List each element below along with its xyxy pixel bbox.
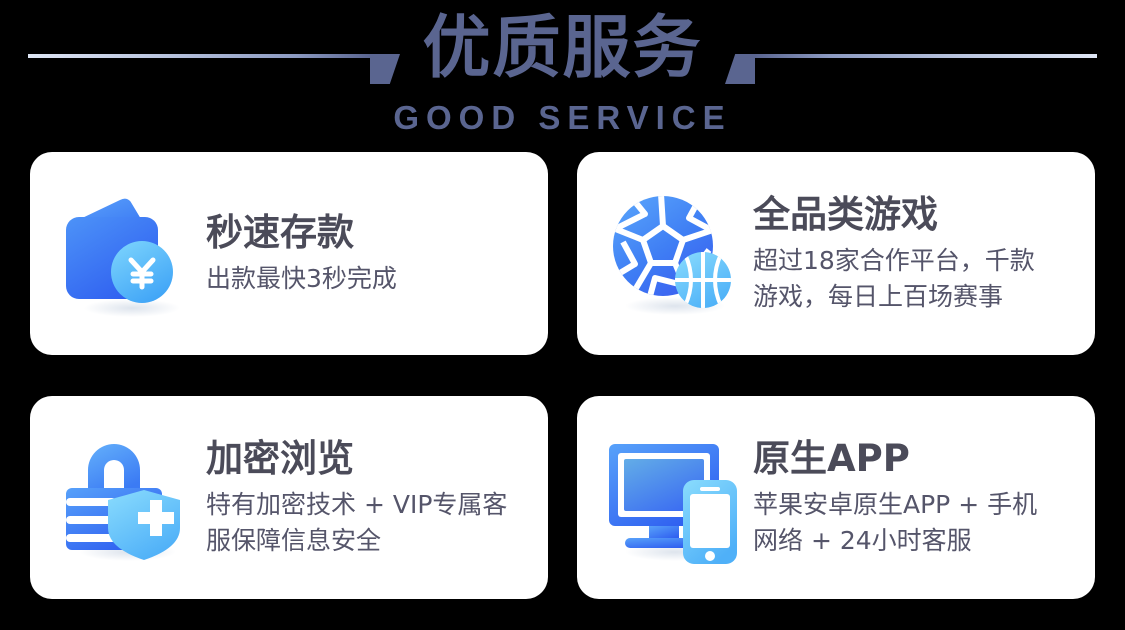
left-decoration-slash-icon <box>370 54 400 84</box>
card-title: 全品类游戏 <box>753 193 1035 237</box>
card-subtitle: 超过18家合作平台，千款 游戏，每日上百场赛事 <box>753 243 1035 315</box>
soccer-basketball-icon-svg <box>605 184 745 324</box>
monitor-phone-icon <box>605 428 745 568</box>
right-decoration <box>715 50 1097 90</box>
card-title: 秒速存款 <box>206 211 397 255</box>
page-subtitle: GOOD SERVICE <box>393 100 731 136</box>
card-subtitle: 苹果安卓原生APP + 手机 网络 + 24小时客服 <box>753 487 1037 559</box>
feature-card-encryption-text: 加密浏览 特有加密技术 + VIP专属客 服保障信息安全 <box>206 437 507 559</box>
soccer-basketball-icon <box>605 184 745 324</box>
wallet-yuan-icon <box>58 184 198 324</box>
lock-shield-icon-svg <box>58 428 198 568</box>
card-subtitle: 出款最快3秒完成 <box>206 261 397 297</box>
lock-shield-icon <box>58 428 198 568</box>
card-subtitle: 特有加密技术 + VIP专属客 服保障信息安全 <box>206 487 507 559</box>
monitor-phone-icon-svg <box>605 428 745 568</box>
feature-card-grid: 秒速存款 出款最快3秒完成 <box>30 152 1095 599</box>
page-title: 优质服务 <box>422 12 702 86</box>
left-decoration <box>28 50 410 90</box>
feature-card-games-text: 全品类游戏 超过18家合作平台，千款 游戏，每日上百场赛事 <box>753 193 1035 315</box>
right-decoration-slash-icon <box>725 54 755 84</box>
feature-card-native-app[interactable]: 原生APP 苹果安卓原生APP + 手机 网络 + 24小时客服 <box>577 396 1095 599</box>
page-header: 优质服务 GOOD SERVICE <box>0 0 1125 148</box>
header-title-row: 优质服务 <box>0 0 1125 98</box>
card-title: 加密浏览 <box>206 437 507 481</box>
feature-card-games[interactable]: 全品类游戏 超过18家合作平台，千款 游戏，每日上百场赛事 <box>577 152 1095 355</box>
feature-card-deposit[interactable]: 秒速存款 出款最快3秒完成 <box>30 152 548 355</box>
card-title: 原生APP <box>753 437 1037 481</box>
feature-card-native-app-text: 原生APP 苹果安卓原生APP + 手机 网络 + 24小时客服 <box>753 437 1037 559</box>
right-decoration-line <box>755 54 1097 58</box>
left-decoration-line <box>28 54 370 58</box>
feature-card-deposit-text: 秒速存款 出款最快3秒完成 <box>206 211 397 297</box>
wallet-yuan-icon-svg <box>58 184 198 324</box>
feature-card-encryption[interactable]: 加密浏览 特有加密技术 + VIP专属客 服保障信息安全 <box>30 396 548 599</box>
